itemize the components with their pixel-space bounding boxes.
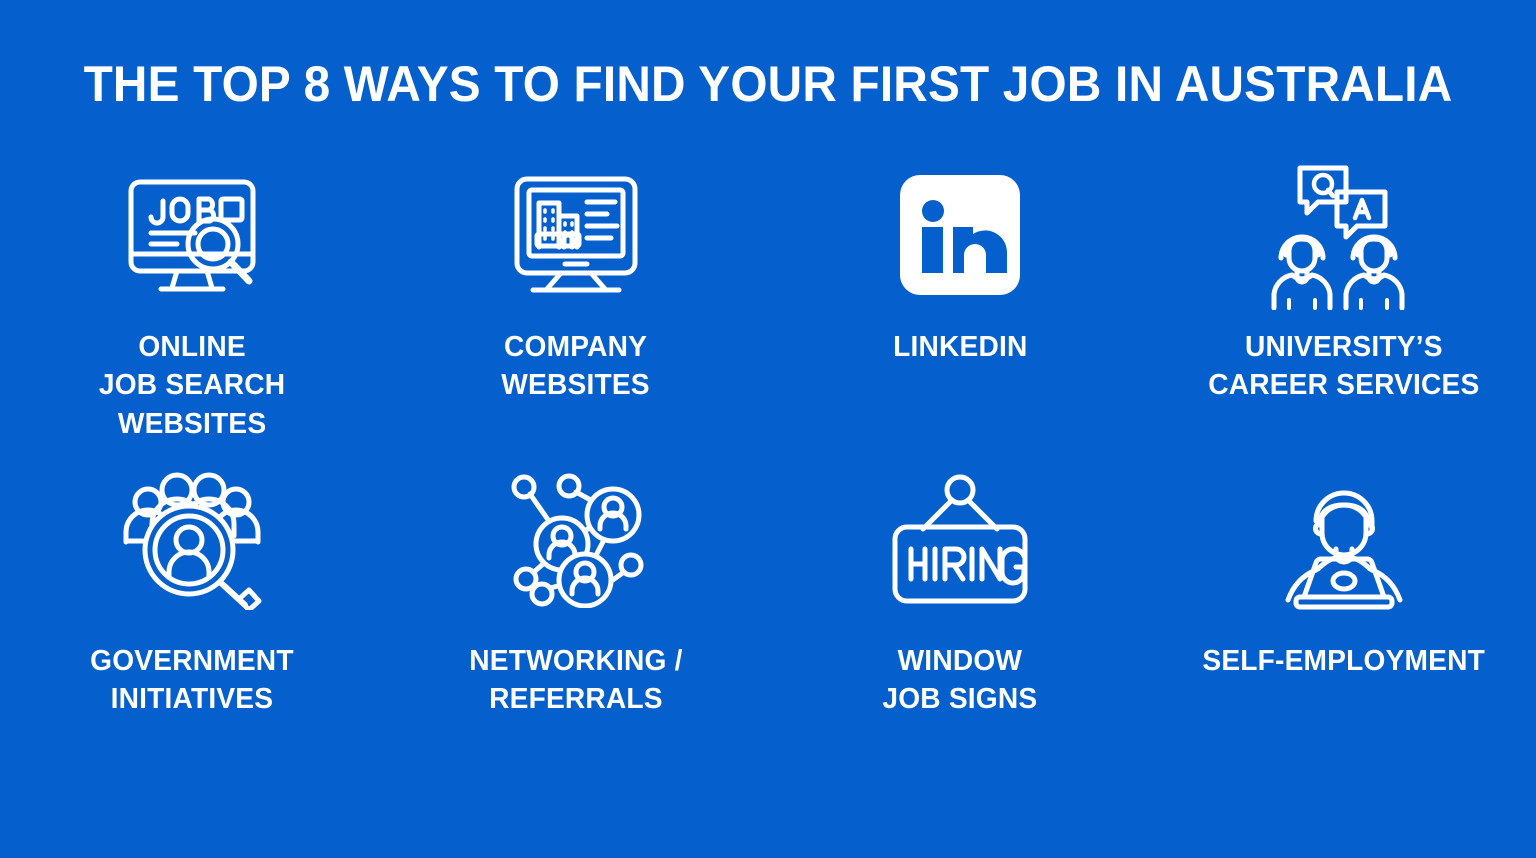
monitor-job-search-icon <box>117 160 267 310</box>
item-government-initiatives[interactable]: GOVERNMENT INITIATIVES <box>0 460 384 760</box>
item-online-job-search-websites[interactable]: ONLINE JOB SEARCH WEBSITES <box>0 160 384 460</box>
linkedin-icon <box>896 160 1024 310</box>
hiring-sign-icon <box>885 460 1035 620</box>
person-laptop-icon <box>1276 460 1412 620</box>
item-label: NETWORKING / REFERRALS <box>469 642 682 719</box>
item-label: SELF-EMPLOYMENT <box>1203 642 1486 680</box>
item-linkedin[interactable]: LINKEDIN <box>768 160 1152 460</box>
page-title: THE TOP 8 WAYS TO FIND YOUR FIRST JOB IN… <box>35 58 1502 111</box>
item-networking-referrals[interactable]: NETWORKING / REFERRALS <box>384 460 768 760</box>
item-window-job-signs[interactable]: WINDOW JOB SIGNS <box>768 460 1152 760</box>
network-nodes-icon <box>506 460 646 620</box>
item-label: WINDOW JOB SIGNS <box>883 642 1038 719</box>
item-label: ONLINE JOB SEARCH WEBSITES <box>99 328 285 443</box>
item-label: UNIVERSITY’S CAREER SERVICES <box>1208 328 1479 405</box>
item-university-career-services[interactable]: UNIVERSITY’S CAREER SERVICES <box>1152 160 1536 460</box>
qa-people-icon <box>1269 160 1419 310</box>
item-self-employment[interactable]: SELF-EMPLOYMENT <box>1152 460 1536 760</box>
item-label: COMPANY WEBSITES <box>502 328 650 405</box>
infographic-page: THE TOP 8 WAYS TO FIND YOUR FIRST JOB IN… <box>0 0 1536 858</box>
item-company-websites[interactable]: COMPANY WEBSITES <box>384 160 768 460</box>
item-label: LINKEDIN <box>893 328 1027 366</box>
ways-grid: ONLINE JOB SEARCH WEBSITES <box>0 160 1536 760</box>
people-search-icon <box>117 460 267 620</box>
item-label: GOVERNMENT INITIATIVES <box>90 642 294 719</box>
monitor-company-icon <box>503 160 649 310</box>
